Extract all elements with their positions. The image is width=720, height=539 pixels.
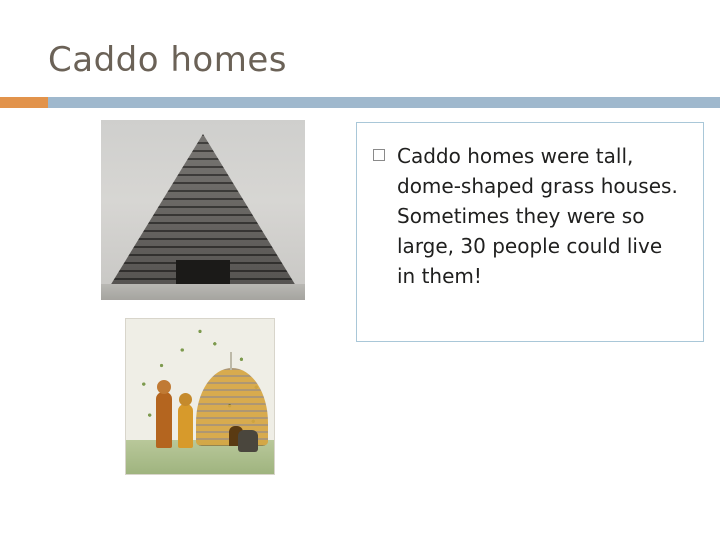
- grass-house-photo: [101, 120, 305, 300]
- title-divider-rule: [48, 97, 720, 108]
- page-title: Caddo homes: [48, 40, 287, 80]
- grass-house-door: [176, 260, 230, 286]
- caddo-painting: [125, 318, 275, 475]
- list-item: Caddo homes were tall, dome-shaped grass…: [373, 141, 685, 291]
- painting-rock: [238, 430, 258, 452]
- painting-figure-right: [178, 404, 193, 448]
- photo-ground: [101, 284, 305, 300]
- square-bullet-icon: [373, 149, 385, 161]
- painting-figure-left: [156, 392, 172, 448]
- painting-smoke: [230, 352, 232, 370]
- painting-figure-right-head: [179, 393, 192, 406]
- slide: Caddo homes Caddo homes were tall, dome-…: [0, 0, 720, 539]
- title-accent-bar: [0, 97, 48, 108]
- painting-figure-left-head: [157, 380, 171, 394]
- content-textbox: Caddo homes were tall, dome-shaped grass…: [356, 122, 704, 342]
- bullet-text: Caddo homes were tall, dome-shaped grass…: [397, 141, 685, 291]
